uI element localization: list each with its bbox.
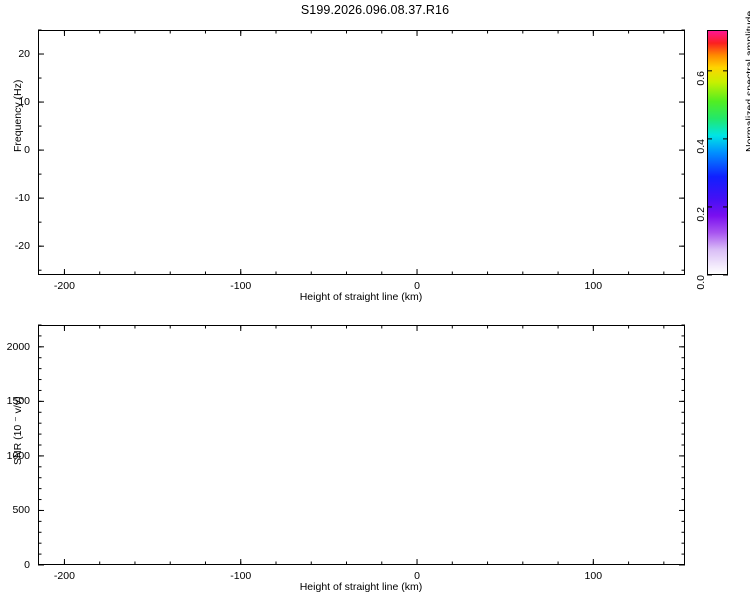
- spectrogram-ytick-4: 20: [18, 48, 30, 60]
- spectrogram-xtick-0: -200: [54, 280, 75, 292]
- spectrogram-xtick-3: 100: [585, 280, 603, 292]
- snr-xtick-0: -200: [54, 570, 75, 582]
- spectrogram-panel: [38, 30, 685, 275]
- snr-ytick-0: 0: [24, 559, 30, 571]
- spectrogram-xaxis-label: Height of straight line (km): [300, 291, 423, 303]
- snr-yaxis-label: SNR (10 ⁻ v/v): [12, 396, 24, 465]
- colorbar-tick-3: 0.6: [695, 71, 707, 86]
- snr-ytick-4: 2000: [7, 341, 30, 353]
- snr-xaxis-label: Height of straight line (km): [300, 581, 423, 593]
- colorbar-label: Normalized spectral amplitude: [744, 11, 750, 152]
- spectrogram-yaxis-label: Frequency (Hz): [12, 80, 24, 152]
- colorbar-tick-1: 0.2: [695, 207, 707, 222]
- snr-ytick-1: 500: [12, 504, 30, 516]
- spectrogram-xtick-1: -100: [230, 280, 251, 292]
- colorbar-tick-2: 0.4: [695, 139, 707, 154]
- colorbar-tick-0: 0.0: [695, 275, 707, 290]
- colorbar: [707, 30, 728, 275]
- snr-xtick-1: -100: [230, 570, 251, 582]
- spectrogram-image: [39, 31, 684, 274]
- spectrogram-ytick-1: -10: [15, 192, 30, 204]
- snr-xtick-3: 100: [585, 570, 603, 582]
- spectrogram-ytick-2: 0: [24, 144, 30, 156]
- snr-trace: [39, 326, 684, 564]
- snr-panel: [38, 325, 685, 565]
- spectrogram-ytick-0: -20: [15, 240, 30, 252]
- figure-title: S199.2026.096.08.37.R16: [0, 3, 750, 17]
- figure-root: S199.2026.096.08.37.R16 -200-1000100-20-…: [0, 0, 750, 600]
